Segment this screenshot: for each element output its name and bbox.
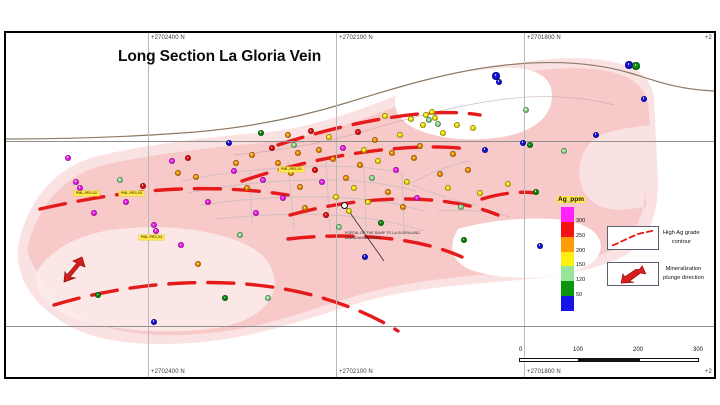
sample-point [195, 261, 201, 267]
legend-label-high-grade-contour: High Ag grade contour [663, 229, 700, 246]
sample-point [123, 199, 129, 205]
sample-point [351, 185, 357, 191]
scale-bar-segment [579, 358, 639, 362]
colorbar-tick-label: 50 [576, 292, 582, 298]
sample-point [178, 242, 184, 248]
drill-hole-label: PML-PES-02 [74, 191, 99, 196]
red-arrow-icon [621, 266, 646, 283]
sample-point [330, 156, 336, 162]
dashed-red-line-icon [613, 231, 653, 246]
sample-point [316, 147, 322, 153]
mineralization-plunge-arrow-icon [58, 255, 88, 283]
sample-point [408, 116, 414, 122]
sample-point [312, 167, 318, 173]
colorbar-segment [561, 222, 574, 237]
drill-hole-label: PML-PES-01 [279, 167, 304, 172]
sample-point [91, 210, 97, 216]
colorbar-tick-label: 150 [576, 262, 585, 268]
sample-point [295, 150, 301, 156]
colorbar-segment [561, 281, 574, 296]
scale-bar-tick-label: 300 [693, 347, 703, 353]
sample-point [375, 158, 381, 164]
sample-point [231, 168, 237, 174]
sample-point [445, 185, 451, 191]
sample-point [365, 199, 371, 205]
sample-point [369, 175, 375, 181]
sample-point [244, 185, 250, 191]
colorbar-tick-label: 300 [576, 218, 585, 224]
sample-point [333, 194, 339, 200]
map-frame: +2702400 N +2702100 N +2701800 N +2 +270… [4, 31, 716, 379]
scale-bar: 0100200300 [519, 347, 701, 367]
sample-point [435, 121, 441, 127]
sample-point [378, 220, 384, 226]
colorbar-segment [561, 207, 574, 222]
sample-point [361, 147, 367, 153]
sample-point [319, 179, 325, 185]
grid-line-horizontal [6, 141, 714, 142]
sample-point [440, 130, 446, 136]
colorbar-tick-label: 200 [576, 248, 585, 254]
sample-point [222, 295, 228, 301]
sample-point [95, 292, 101, 298]
sample-point [470, 125, 476, 131]
colorbar-segment [561, 252, 574, 267]
sample-point [393, 167, 399, 173]
colorbar-segment [561, 296, 574, 311]
sample-point [169, 158, 175, 164]
sample-point [233, 160, 239, 166]
colorbar-segment [561, 237, 574, 252]
sample-point [458, 204, 464, 210]
sample-point [420, 122, 426, 128]
sample-point [450, 151, 456, 157]
sample-point [461, 237, 467, 243]
sample-point [561, 148, 567, 154]
sample-point [437, 171, 443, 177]
sample-point [185, 155, 191, 161]
scale-bar-segment [519, 358, 579, 362]
sample-point [372, 137, 378, 143]
sample-point [297, 184, 303, 190]
sample-point [237, 232, 243, 238]
sample-point [527, 142, 533, 148]
portal-annotation: PORTAL OF THE RAMP TO LA GLORIA AND ABUN… [345, 231, 441, 241]
sample-point [275, 160, 281, 166]
northing-label-top: +2701800 N [527, 35, 561, 41]
sample-point [355, 129, 361, 135]
scale-bar-tick-label: 0 [519, 347, 522, 353]
sample-point [291, 142, 297, 148]
legend-swatch-high-grade-contour [607, 226, 659, 250]
scale-bar-segment [639, 358, 699, 362]
northing-label-bottom: +2701800 N [527, 369, 561, 375]
sample-point [417, 143, 423, 149]
sample-point [302, 205, 308, 211]
sample-point [308, 128, 314, 134]
sample-point [343, 175, 349, 181]
sample-point [260, 177, 266, 183]
sample-point [193, 174, 199, 180]
sample-point [326, 134, 332, 140]
colorbar-tick-label: 120 [576, 277, 585, 283]
sample-point [632, 62, 639, 69]
sample-point [253, 210, 259, 216]
page-title: Long Section La Gloria Vein [118, 48, 321, 66]
legend-swatch-plunge-direction [607, 262, 659, 286]
sample-point [382, 113, 388, 119]
edge-label-right-bottom: +2 [705, 369, 712, 375]
sample-point [285, 132, 291, 138]
sample-point [323, 212, 329, 218]
sample-point [414, 195, 420, 201]
sample-point [269, 145, 275, 151]
sample-point [397, 132, 403, 138]
northing-label-bottom: +2702100 N [339, 369, 373, 375]
sample-point [477, 190, 483, 196]
northing-label-top: +2702100 N [339, 35, 373, 41]
sample-point [205, 199, 211, 205]
legend-label-plunge-direction: Mineralization plunge direction [663, 265, 704, 282]
sample-point [411, 155, 417, 161]
sample-point [465, 167, 471, 173]
sample-point [346, 208, 352, 214]
ag-ppm-colorbar [561, 207, 574, 311]
sample-point [357, 162, 363, 168]
sample-point [175, 170, 181, 176]
grid-line-horizontal [6, 326, 714, 327]
sample-point [454, 122, 460, 128]
sample-point [385, 189, 391, 195]
northing-label-top: +2702400 N [151, 35, 185, 41]
sample-point [280, 195, 286, 201]
legend-title: Ag_ppm [557, 196, 585, 203]
colorbar-segment [561, 266, 574, 281]
sample-point [400, 204, 406, 210]
drill-hole-label: PML-PES-03 [119, 191, 144, 196]
northing-label-bottom: +2702400 N [151, 369, 185, 375]
sample-point [389, 150, 395, 156]
sample-point [404, 179, 410, 185]
colorbar-tick-label: 250 [576, 233, 585, 239]
edge-label-right-top: +2 [705, 35, 712, 41]
sample-point [336, 224, 342, 230]
sample-point [505, 181, 511, 187]
scale-bar-tick-label: 200 [633, 347, 643, 353]
long-section-map: N S +2100 +2100 +1800 +1800 [0, 0, 720, 405]
drill-hole-label: PML-PES-04 [139, 235, 164, 240]
scale-bar-tick-label: 100 [573, 347, 583, 353]
sample-point [265, 295, 271, 301]
sample-point [340, 145, 346, 151]
